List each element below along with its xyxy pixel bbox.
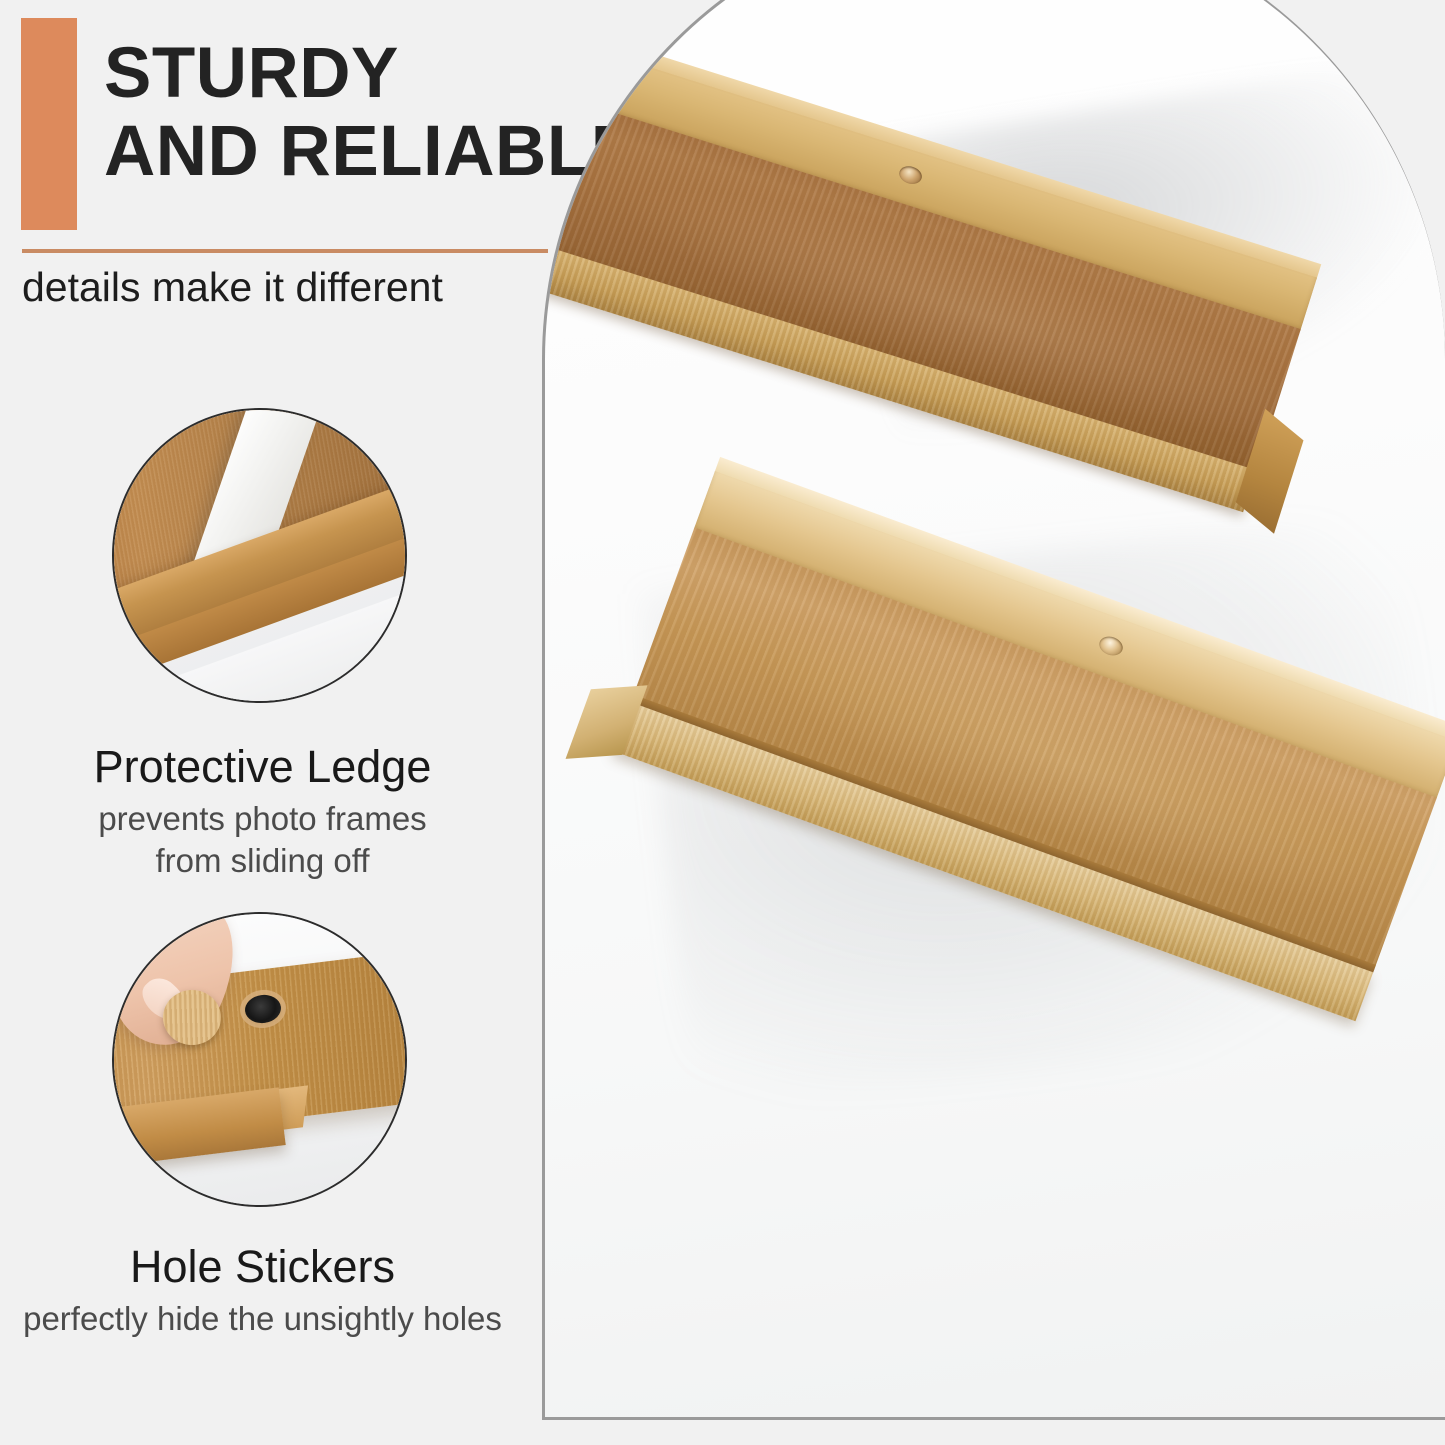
product-photo	[545, 0, 1445, 1417]
product-photo-arch-frame	[542, 0, 1445, 1420]
page-subtitle: details make it different	[22, 262, 622, 312]
product-feature-card: STURDY AND RELIABLE details make it diff…	[0, 0, 1445, 1445]
feature-subtitle-hole-stickers: perfectly hide the unsightly holes	[0, 1298, 525, 1340]
upper-shelf-screw-hole	[897, 164, 924, 187]
feature-subtitle-protective-ledge: prevents photo frames from sliding off	[0, 798, 525, 882]
hole-stickers-photo	[114, 914, 405, 1205]
accent-bar	[21, 18, 77, 230]
feature-inset-protective-ledge	[112, 408, 407, 703]
lower-shelf-screw-hole	[1097, 633, 1126, 658]
inset2-hole-sticker	[163, 990, 221, 1045]
feature-inset-hole-stickers	[112, 912, 407, 1207]
title-divider	[22, 249, 548, 253]
protective-ledge-photo	[114, 410, 405, 701]
feature-title-protective-ledge: Protective Ledge	[0, 740, 525, 794]
feature-title-hole-stickers: Hole Stickers	[0, 1240, 525, 1294]
